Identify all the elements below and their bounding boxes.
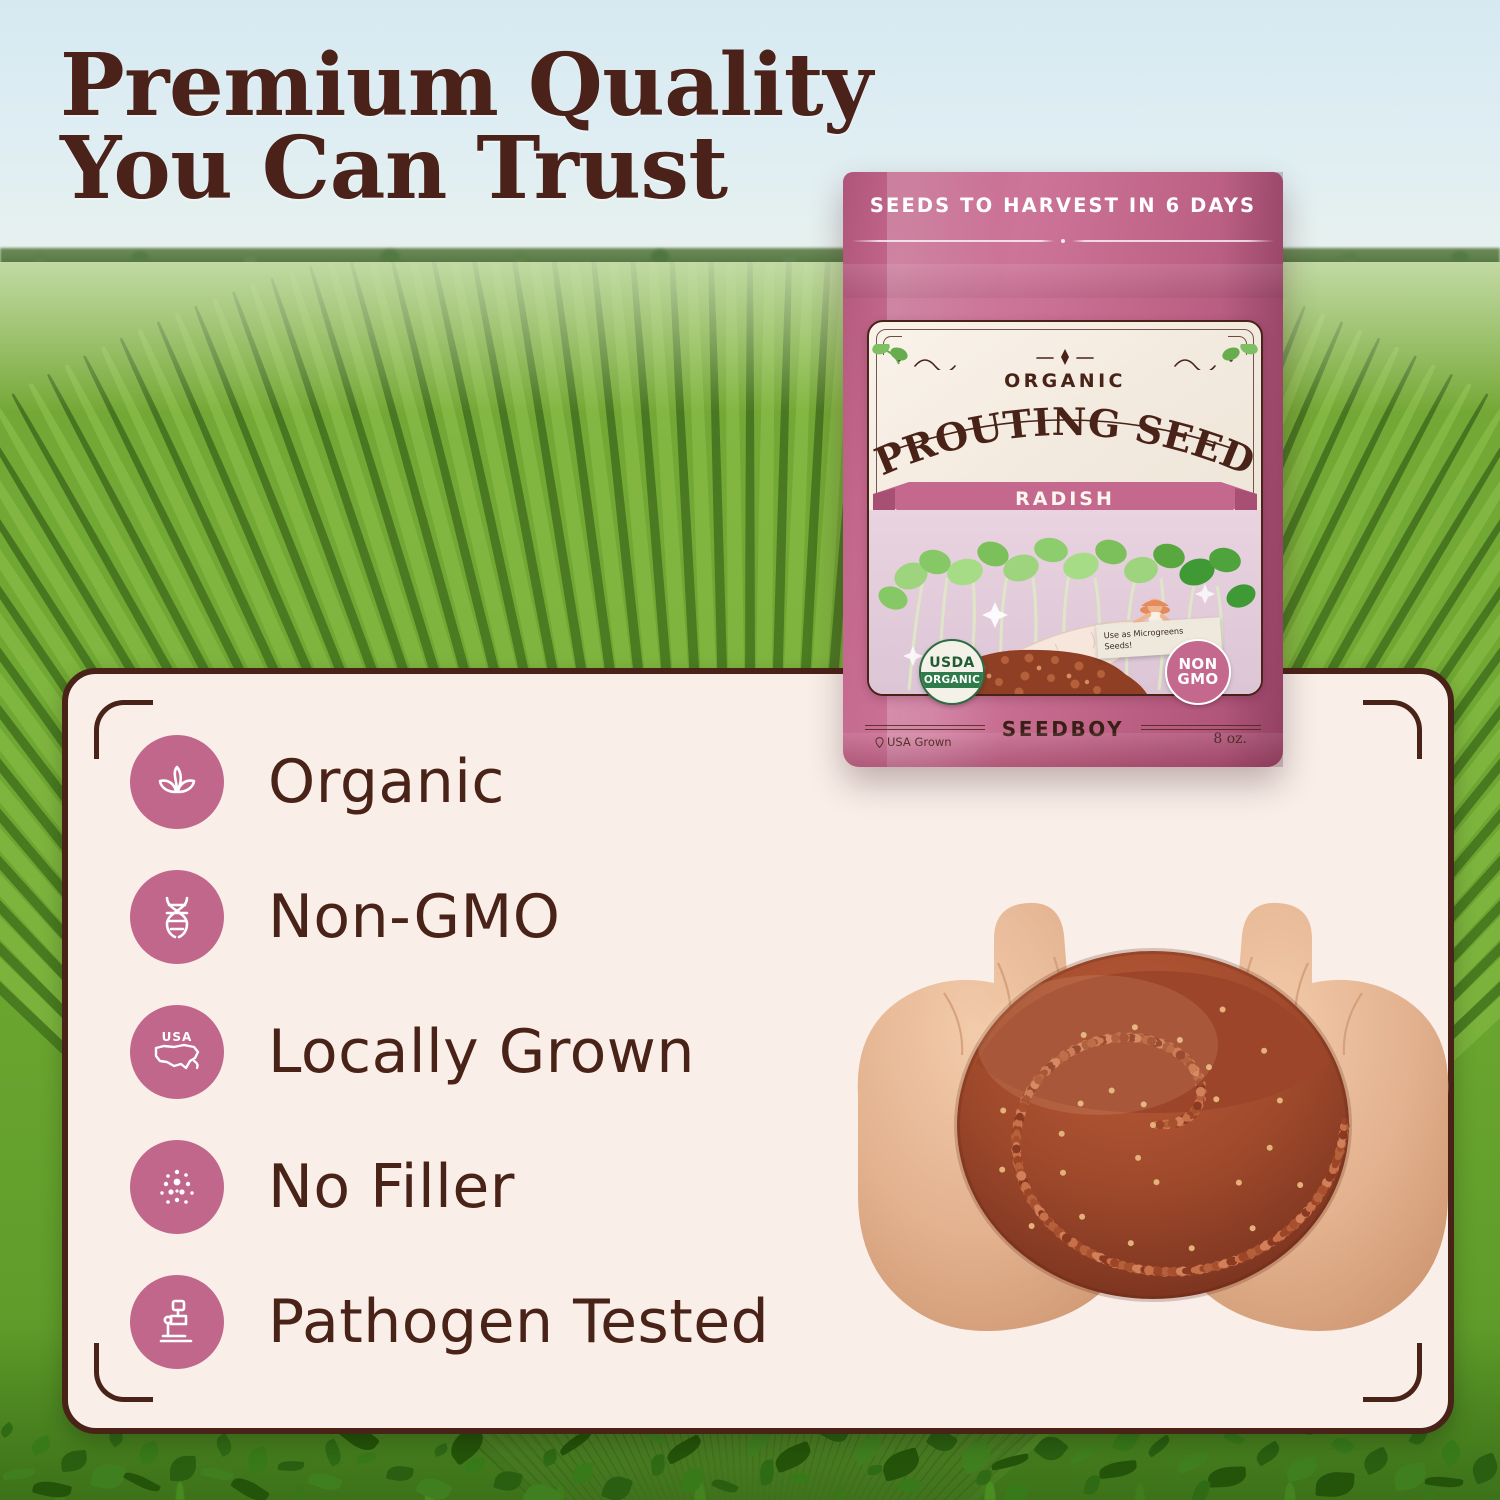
feature-row: Organic <box>130 714 950 849</box>
headline-line-1: Premium Quality <box>60 44 880 127</box>
label-title: SPROUTING SEEDS <box>869 386 1261 476</box>
pouch-base <box>843 733 1283 767</box>
feature-row: No Filler <box>130 1119 950 1254</box>
headline: Premium Quality You Can Trust <box>60 44 880 211</box>
label-flourish-icon <box>869 344 1261 370</box>
svg-text:SPROUTING SEEDS: SPROUTING SEEDS <box>869 386 1261 476</box>
dna-helix-icon <box>130 870 224 964</box>
svg-text:RADISH: RADISH <box>1015 488 1115 510</box>
feature-label: Locally Grown <box>268 1022 695 1082</box>
pouch-zipper-dot <box>1061 239 1065 243</box>
usda-badge-bottom: ORGANIC <box>919 672 985 688</box>
feature-row: USALocally Grown <box>130 984 950 1119</box>
usda-badge-top: USDA <box>929 656 975 670</box>
svg-text:USA: USA <box>162 1030 193 1044</box>
product-pouch: SEEDS TO HARVEST IN 6 DAYS <box>843 172 1283 767</box>
microscope-icon <box>130 1275 224 1369</box>
card-corner-br <box>1363 1343 1422 1402</box>
microgreens-tag-text: Use as Microgreens Seeds! <box>1103 625 1183 651</box>
scattered-dots-icon <box>130 1140 224 1234</box>
feature-row: Pathogen Tested <box>130 1254 950 1389</box>
hands-photo <box>848 795 1458 1335</box>
feature-row: Non-GMO <box>130 849 950 984</box>
pouch-zipper-band <box>843 264 1283 298</box>
pouch-top-banner: SEEDS TO HARVEST IN 6 DAYS <box>843 194 1283 217</box>
non-gmo-badge: NON GMO <box>1165 639 1231 705</box>
non-gmo-line-2: GMO <box>1177 672 1218 687</box>
usda-organic-badge: USDA ORGANIC <box>919 639 985 705</box>
sprout-leaves-icon <box>130 735 224 829</box>
feature-label: No Filler <box>268 1157 515 1217</box>
feature-label: Organic <box>268 752 505 812</box>
usa-map-icon: USA <box>130 1005 224 1099</box>
feature-label: Non-GMO <box>268 887 560 947</box>
card-corner-tr <box>1363 700 1422 759</box>
feature-list: OrganicNon-GMOUSALocally GrownNo FillerP… <box>130 714 950 1389</box>
hands-holding-seeds <box>848 795 1458 1335</box>
feature-label: Pathogen Tested <box>268 1292 769 1352</box>
product-marketing-image: Premium Quality You Can Trust SEEDS TO H… <box>0 0 1500 1500</box>
headline-line-2: You Can Trust <box>60 127 880 210</box>
